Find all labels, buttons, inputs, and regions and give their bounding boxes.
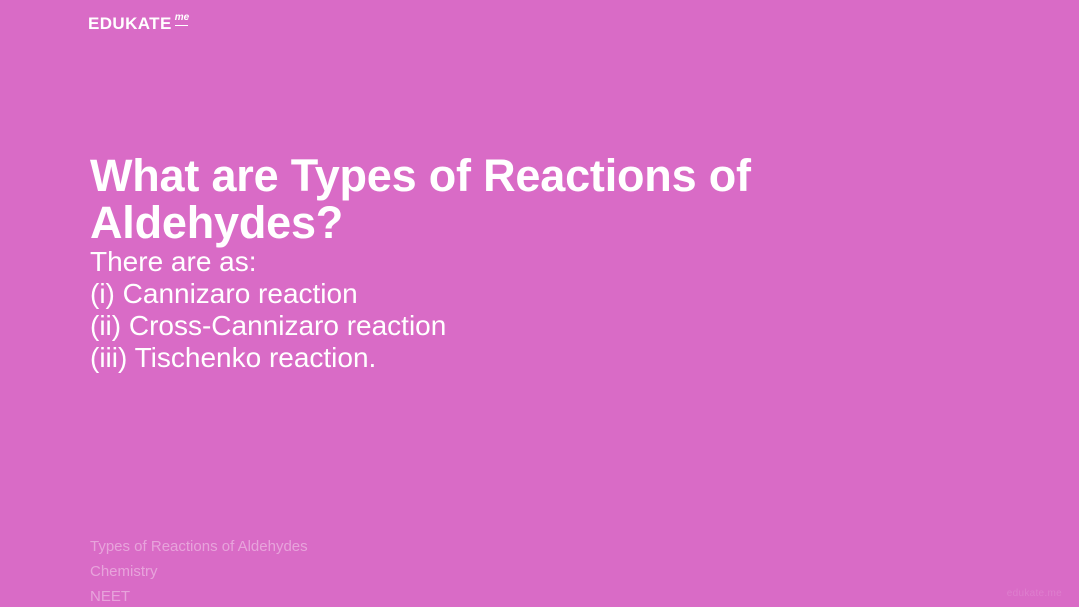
slide-title: What are Types of Reactions of Aldehydes…	[90, 152, 1010, 247]
body-line: (ii) Cross-Cannizaro reaction	[90, 310, 850, 342]
body-line: (i) Cannizaro reaction	[90, 278, 850, 310]
slide-body: There are as: (i) Cannizaro reaction (ii…	[90, 246, 850, 374]
brand-logo-suffix: me	[175, 13, 189, 26]
footer-exam: NEET	[90, 584, 308, 607]
corner-watermark: edukate.me	[1007, 588, 1062, 599]
brand-logo[interactable]: EDUKATE me	[88, 15, 189, 32]
brand-logo-word: EDUKATE	[88, 15, 172, 32]
footer-topic: Types of Reactions of Aldehydes	[90, 534, 308, 559]
body-line: (iii) Tischenko reaction.	[90, 342, 850, 374]
slide-footer-meta: Types of Reactions of Aldehydes Chemistr…	[90, 534, 308, 607]
body-line: There are as:	[90, 246, 850, 278]
footer-subject: Chemistry	[90, 559, 308, 584]
slide-canvas: EDUKATE me What are Types of Reactions o…	[0, 0, 1079, 607]
